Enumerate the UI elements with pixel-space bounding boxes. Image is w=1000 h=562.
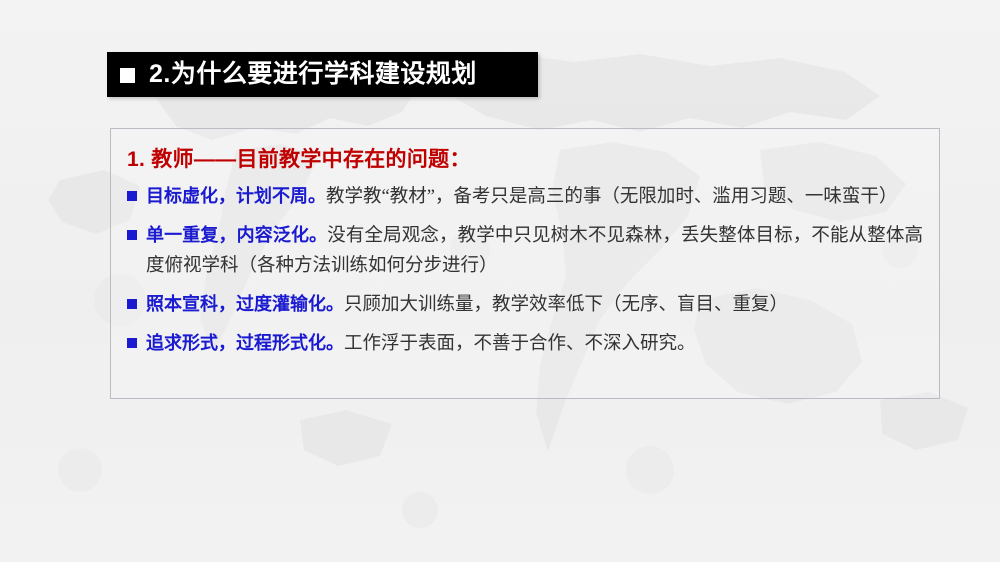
page-title: 2.为什么要进行学科建设规划 [149, 62, 477, 87]
list-item-lead: 照本宣科，过度灌输化。 [146, 294, 344, 314]
list-item-body: 工作浮于表面，不善于合作、不深入研究。 [344, 334, 696, 354]
list-item-text: 追求形式，过程形式化。工作浮于表面，不善于合作、不深入研究。 [146, 329, 923, 360]
list-item: 单一重复，内容泛化。没有全局观念，教学中只见树木不见森林，丢失整体目标，不能从整… [127, 221, 923, 282]
list-item-lead: 目标虚化，计划不周。 [146, 186, 326, 206]
section-heading: 1. 教师——目前教学中存在的问题： [127, 143, 923, 173]
list-item: 追求形式，过程形式化。工作浮于表面，不善于合作、不深入研究。 [127, 329, 923, 360]
list-item-text: 目标虚化，计划不周。教学教“教材”，备考只是高三的事（无限加时、滥用习题、一味蛮… [146, 182, 923, 213]
square-marker-icon [120, 68, 135, 83]
slide-canvas: 2.为什么要进行学科建设规划 1. 教师——目前教学中存在的问题： 目标虚化，计… [0, 0, 1000, 562]
square-bullet-icon [127, 191, 137, 201]
list-item-lead: 追求形式，过程形式化。 [146, 333, 344, 353]
list-item-lead: 单一重复，内容泛化。 [146, 225, 327, 245]
slide-title-bar: 2.为什么要进行学科建设规划 [107, 52, 538, 97]
list-item: 照本宣科，过度灌输化。只顾加大训练量，教学效率低下（无序、盲目、重复） [127, 290, 923, 321]
list-item-body: 只顾加大训练量，教学效率低下（无序、盲目、重复） [344, 295, 788, 315]
list-item-body: 教学教“教材”，备考只是高三的事（无限加时、滥用习题、一味蛮干） [326, 187, 897, 207]
list-item-text: 单一重复，内容泛化。没有全局观念，教学中只见树木不见森林，丢失整体目标，不能从整… [146, 221, 923, 282]
list-item: 目标虚化，计划不周。教学教“教材”，备考只是高三的事（无限加时、滥用习题、一味蛮… [127, 182, 923, 213]
square-bullet-icon [127, 338, 137, 348]
list-item-text: 照本宣科，过度灌输化。只顾加大训练量，教学效率低下（无序、盲目、重复） [146, 290, 923, 321]
content-panel: 1. 教师——目前教学中存在的问题： 目标虚化，计划不周。教学教“教材”，备考只… [110, 128, 940, 399]
square-bullet-icon [127, 299, 137, 309]
square-bullet-icon [127, 230, 137, 240]
